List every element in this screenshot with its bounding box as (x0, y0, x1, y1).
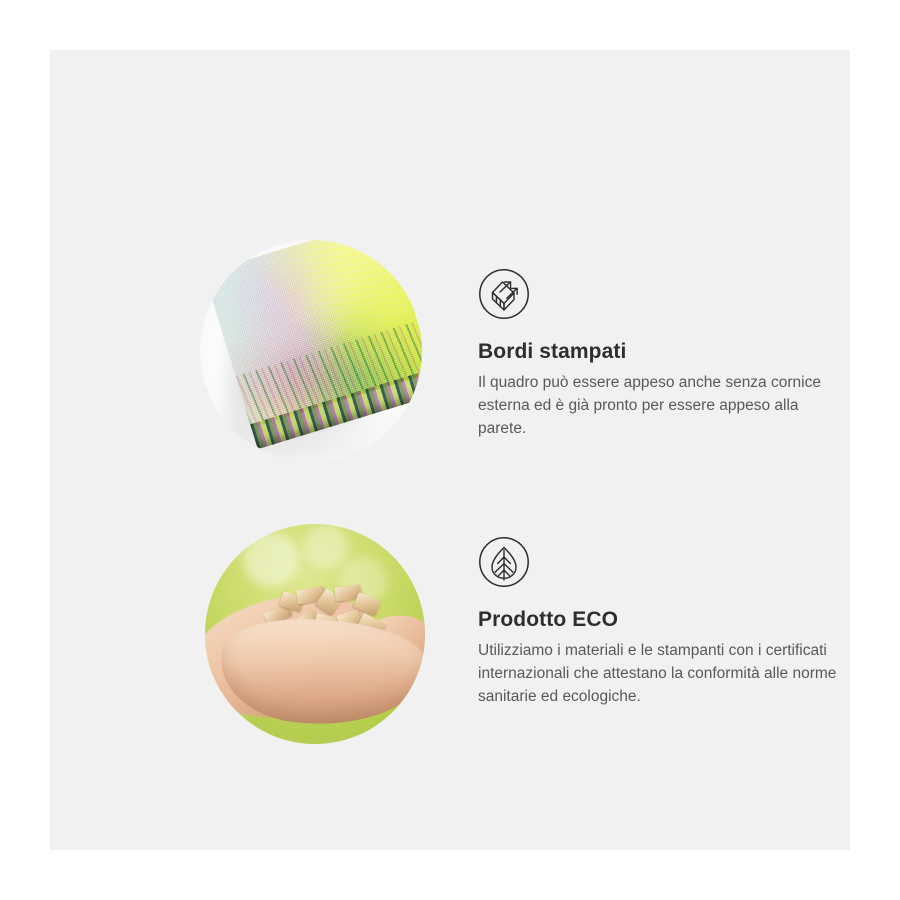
product-feature-infographic: Bordi stampati Il quadro può essere appe… (0, 0, 900, 900)
feature-title: Bordi stampati (478, 340, 858, 364)
eco-wood-chips-photo (205, 524, 425, 744)
feature-description: Il quadro può essere appeso anche senza … (478, 372, 846, 441)
feature-description: Utilizziamo i materiali e le stampanti c… (478, 640, 846, 709)
printed-edges-icon (478, 268, 530, 320)
leaf-icon (478, 536, 530, 588)
feature-title: Prodotto ECO (478, 608, 858, 632)
content-panel: Bordi stampati Il quadro può essere appe… (50, 50, 850, 850)
feature-block-printed-edges: Bordi stampati Il quadro può essere appe… (478, 268, 858, 441)
canvas-print-photo (200, 240, 422, 462)
feature-block-eco-product: Prodotto ECO Utilizziamo i materiali e l… (478, 536, 858, 709)
